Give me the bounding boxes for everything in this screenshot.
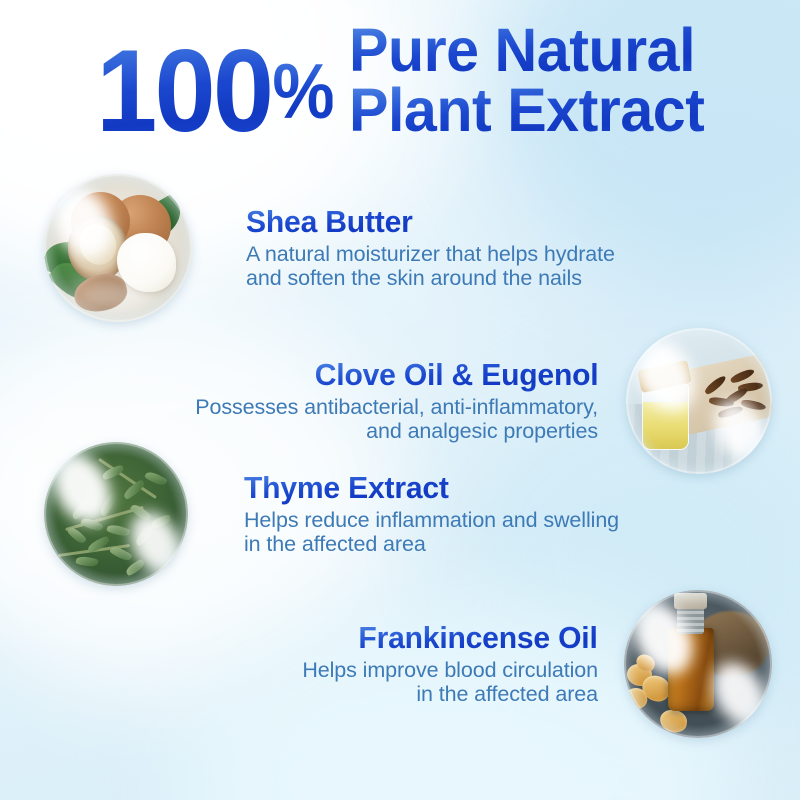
headline-row: 100 % Pure Natural Plant Extract: [0, 26, 800, 144]
ingredient-row-frankincense-oil: Frankincense Oil Helps improve blood cir…: [190, 588, 772, 740]
thyme-extract-description: Helps reduce inflammation and swelling i…: [244, 508, 619, 556]
percent-symbol: %: [273, 52, 334, 130]
ingredient-row-shea-butter: Shea Butter A natural moisturizer that h…: [44, 174, 664, 322]
thyme-extract-text: Thyme Extract Helps reduce inflammation …: [244, 472, 619, 556]
product-ingredients-infographic: 100 % Pure Natural Plant Extract: [0, 0, 800, 800]
headline-lines: Pure Natural Plant Extract: [349, 22, 715, 140]
clove-oil-title: Clove Oil & Eugenol: [314, 359, 598, 392]
shea-butter-description: A natural moisturizer that helps hydrate…: [246, 242, 615, 290]
clove-oil-description: Possesses antibacterial, anti-inflammato…: [195, 395, 598, 443]
shea-butter-text: Shea Butter A natural moisturizer that h…: [246, 206, 615, 290]
frankincense-oil-description: Helps improve blood circulation in the a…: [302, 658, 598, 706]
frankincense-oil-text: Frankincense Oil Helps improve blood cir…: [190, 622, 598, 706]
thyme-extract-image: [44, 442, 188, 586]
headline-line-2: Plant Extract: [349, 82, 704, 140]
frankincense-oil-title: Frankincense Oil: [359, 622, 598, 655]
frankincense-oil-image: [624, 590, 772, 738]
headline-line-1: Pure Natural: [349, 22, 704, 80]
headline: 100 % Pure Natural Plant Extract: [0, 26, 800, 144]
frankincense-oil-bottle-photo: [624, 590, 772, 738]
shea-nuts-and-butter-photo: [44, 174, 192, 322]
ingredient-row-thyme-extract: Thyme Extract Helps reduce inflammation …: [44, 442, 664, 586]
clove-oil-text: Clove Oil & Eugenol Possesses antibacter…: [132, 359, 598, 443]
shea-butter-image: [44, 174, 192, 322]
thyme-extract-title: Thyme Extract: [244, 472, 449, 505]
shea-butter-title: Shea Butter: [246, 206, 413, 239]
percent-number: 100: [96, 32, 271, 149]
thyme-sprigs-photo: [44, 442, 188, 586]
